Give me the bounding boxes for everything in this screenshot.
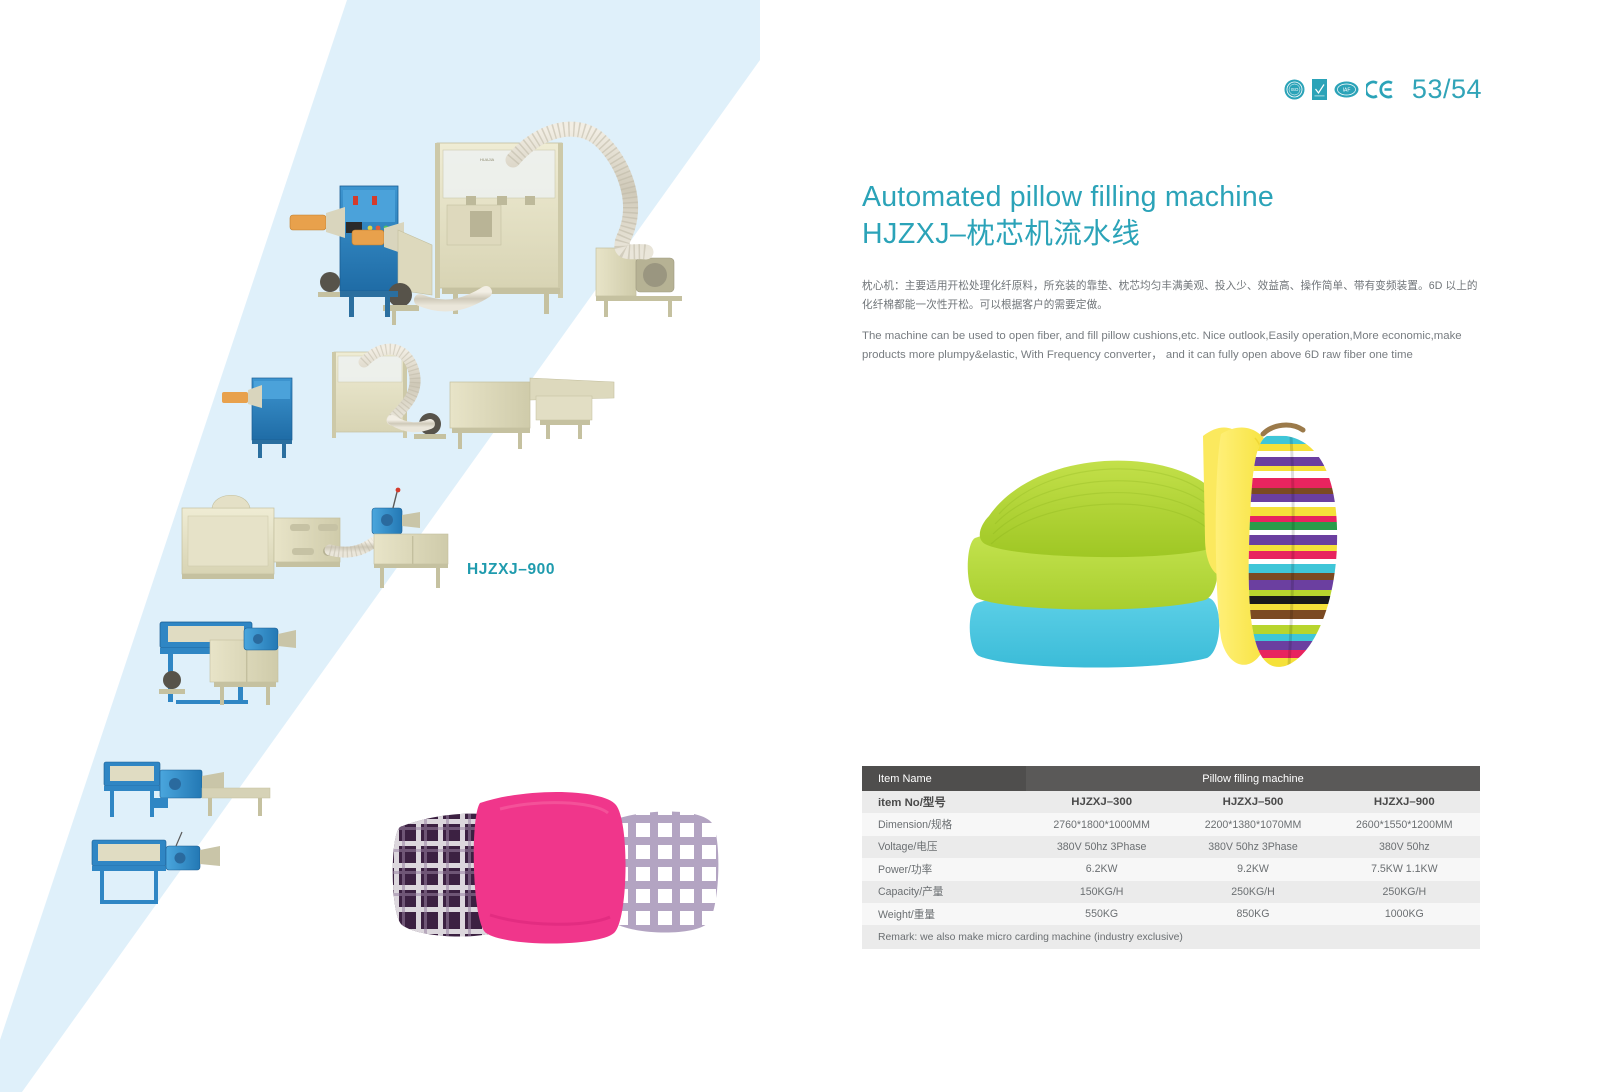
row-label: Voltage/电压	[862, 836, 1026, 858]
svg-text:IAF: IAF	[1343, 88, 1351, 94]
machine-line-5	[104, 762, 270, 817]
model-caption-hjzxj-900: HJZXJ–900	[467, 561, 555, 579]
ce-mark-badge	[1366, 79, 1394, 100]
page-title-english: Automated pillow filling machine	[862, 180, 1482, 215]
table-row-dimension: Dimension/规格 2760*1800*1000MM 2200*1380*…	[862, 813, 1480, 835]
header-item-name: Item Name	[862, 766, 1026, 791]
cushions-photo	[360, 775, 740, 945]
iaf-oval-badge: IAF	[1334, 79, 1359, 100]
cell-value: 550KG	[1026, 903, 1177, 925]
header-group-title: Pillow filling machine	[1026, 766, 1480, 791]
cell-value: 1000KG	[1329, 903, 1480, 925]
machine-line-1: HUAJIA	[290, 129, 682, 325]
cell-value: 9.2KW	[1177, 858, 1328, 880]
table-row-model: item No/型号 HJZXJ–300 HJZXJ–500 HJZXJ–900	[862, 791, 1480, 813]
table-row-voltage: Voltage/电压 380V 50hz 3Phase 380V 50hz 3P…	[862, 836, 1480, 858]
table-row-power: Power/功率 6.2KW 9.2KW 7.5KW 1.1KW	[862, 858, 1480, 880]
page-number: 53/54	[1412, 74, 1482, 105]
remark-text: Remark: we also make micro carding machi…	[862, 925, 1480, 949]
colorful-pillows-photo	[955, 398, 1385, 683]
machine-line-3	[182, 488, 448, 588]
cell-value: 2760*1800*1000MM	[1026, 813, 1177, 835]
cell-value: 150KG/H	[1026, 881, 1177, 903]
specification-table: Item Name Pillow filling machine item No…	[862, 766, 1480, 949]
cell-value: 2200*1380*1070MM	[1177, 813, 1328, 835]
cell-value: HJZXJ–300	[1026, 791, 1177, 813]
machine-line-6	[92, 832, 220, 904]
cell-value: 2600*1550*1200MM	[1329, 813, 1480, 835]
row-label: Capacity/产量	[862, 881, 1026, 903]
row-label: Dimension/规格	[862, 813, 1026, 835]
cell-value: 380V 50hz 3Phase	[1026, 836, 1177, 858]
description-chinese: 枕心机：主要适用开松处理化纤原料，所充装的靠垫、枕芯均匀丰满美观、投入少、效益高…	[862, 277, 1480, 314]
cell-value: 380V 50hz 3Phase	[1177, 836, 1328, 858]
description-english: The machine can be used to open fiber, a…	[862, 327, 1472, 364]
table-row-remark: Remark: we also make micro carding machi…	[862, 925, 1480, 949]
iso-seal-badge: ISO	[1284, 79, 1305, 100]
table-row-capacity: Capacity/产量 150KG/H 250KG/H 250KG/H	[862, 881, 1480, 903]
certification-row: ISO IAF 53/54	[1284, 74, 1482, 105]
row-label: Power/功率	[862, 858, 1026, 880]
table-row-weight: Weight/重量 550KG 850KG 1000KG	[862, 903, 1480, 925]
cell-value: 380V 50hz	[1329, 836, 1480, 858]
svg-text:HUAJIA: HUAJIA	[480, 157, 495, 162]
cell-value: 250KG/H	[1177, 881, 1328, 903]
cell-value: HJZXJ–900	[1329, 791, 1480, 813]
machine-line-4	[159, 622, 296, 705]
cell-value: HJZXJ–500	[1177, 791, 1328, 813]
row-label: Weight/重量	[862, 903, 1026, 925]
machine-line-2	[222, 349, 614, 458]
right-content-column: Automated pillow filling machine HJZXJ–枕…	[862, 180, 1482, 364]
cell-value: 6.2KW	[1026, 858, 1177, 880]
table-header-row: Item Name Pillow filling machine	[862, 766, 1480, 791]
svg-text:ISO: ISO	[1291, 87, 1299, 92]
cell-value: 7.5KW 1.1KW	[1329, 858, 1480, 880]
check-mark-badge	[1312, 79, 1327, 100]
page-title-chinese: HJZXJ–枕芯机流水线	[862, 217, 1482, 253]
row-label: item No/型号	[862, 791, 1026, 813]
cell-value: 850KG	[1177, 903, 1328, 925]
cell-value: 250KG/H	[1329, 881, 1480, 903]
